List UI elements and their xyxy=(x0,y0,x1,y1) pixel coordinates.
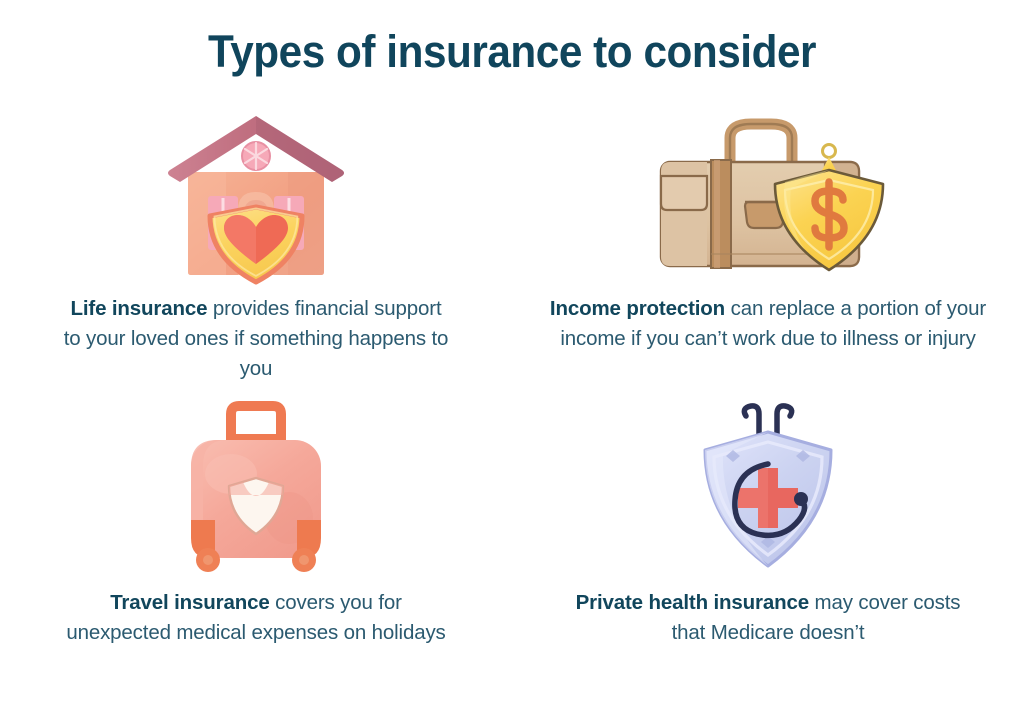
card-life-insurance-caption: Life insurance provides financial suppor… xyxy=(60,294,452,384)
shield-with-stethoscope-illustration xyxy=(512,400,1024,572)
card-income-protection-caption: Income protection can replace a portion … xyxy=(548,294,988,354)
card-travel-insurance-lead: Travel insurance xyxy=(110,591,269,614)
insurance-types-poster: Types of insurance to consider xyxy=(0,0,1024,724)
briefcase-with-dollar-shield-illustration xyxy=(512,104,1024,282)
card-private-health-insurance: Private health insurance may cover costs… xyxy=(512,400,1024,690)
card-private-health-insurance-lead: Private health insurance xyxy=(576,591,809,614)
house-with-heart-shield-illustration xyxy=(0,104,512,282)
card-travel-insurance: Travel insurance covers you for unexpect… xyxy=(0,400,512,690)
card-income-protection: Income protection can replace a portion … xyxy=(512,104,1024,400)
card-income-protection-lead: Income protection xyxy=(550,297,725,320)
card-private-health-insurance-caption: Private health insurance may cover costs… xyxy=(558,588,978,648)
card-life-insurance: Life insurance provides financial suppor… xyxy=(0,104,512,400)
card-travel-insurance-caption: Travel insurance covers you for unexpect… xyxy=(60,588,452,648)
insurance-cards-grid: Life insurance provides financial suppor… xyxy=(0,104,1024,704)
suitcase-with-white-shield-illustration xyxy=(0,400,512,572)
page-title: Types of insurance to consider xyxy=(31,26,994,78)
card-life-insurance-lead: Life insurance xyxy=(70,297,207,320)
